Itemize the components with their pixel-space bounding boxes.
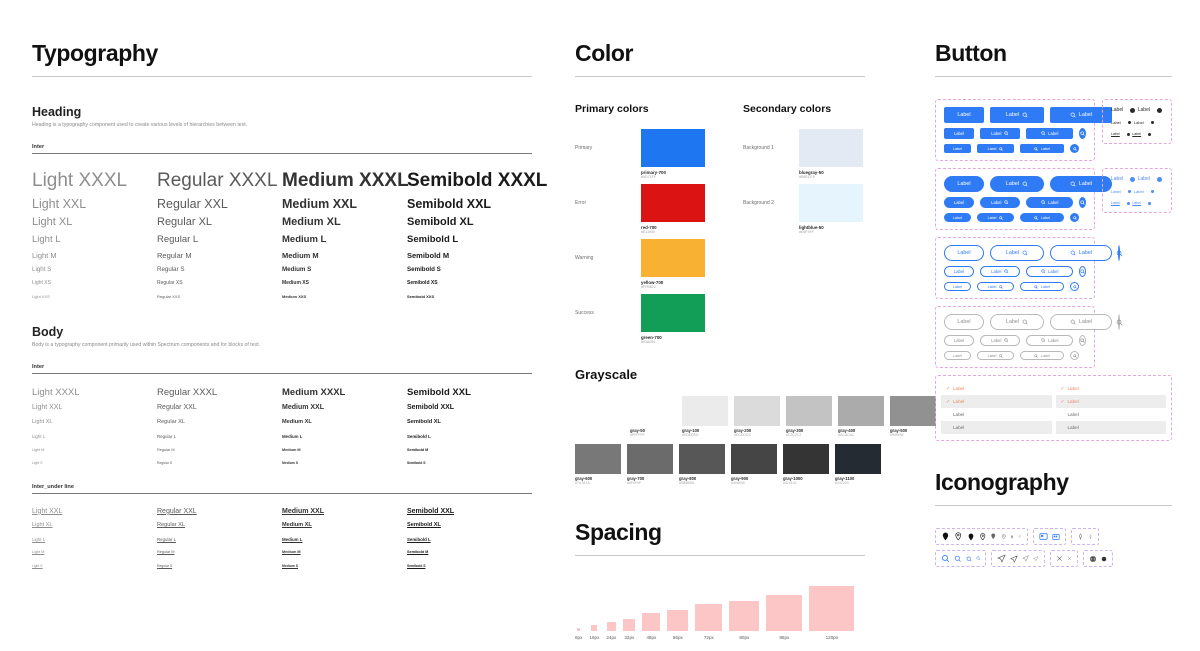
- menu-item-selected-hover[interactable]: ✓Label: [1056, 395, 1167, 408]
- grayscale-swatch: [630, 396, 676, 426]
- text-button-icon-sm[interactable]: Label: [1127, 201, 1141, 205]
- spacing-label: 72px: [704, 635, 714, 640]
- spacing-label: 48px: [646, 635, 656, 640]
- menu-item-hover[interactable]: Label: [1056, 421, 1167, 434]
- spacing-label: 80px: [739, 635, 749, 640]
- grayscale-swatch: [731, 444, 777, 474]
- swatch-role: Background 2: [743, 184, 799, 206]
- search-icon: [1073, 147, 1077, 151]
- spacing-item: 24px: [606, 622, 616, 640]
- button-row-sm: Label Label Label: [944, 144, 1086, 153]
- spacing-item: 48px: [642, 613, 660, 640]
- button-section: Button Label Label Label Label Label Lab…: [935, 40, 1172, 572]
- grayscale-hex: #414141: [783, 481, 829, 485]
- grayscale-swatch: [838, 396, 884, 426]
- type-column-semibold: Semibold XXL Semibold XL Semibold L Semi…: [407, 505, 532, 573]
- swatch-role: Success: [575, 294, 641, 316]
- grayscale-swatch: [890, 396, 936, 426]
- button-row-md: Label Label Label: [944, 197, 1086, 208]
- card-icon[interactable]: [1039, 532, 1048, 541]
- send-icon[interactable]: [997, 554, 1006, 563]
- type-column-light: Light XXXL Light XXL Light XL Light L Li…: [32, 167, 157, 304]
- menu-column: ✓Label ✓Label Label Label: [941, 382, 1052, 434]
- menu-item-selected-hover[interactable]: ✓Label: [941, 395, 1052, 408]
- grayscale-cell: gray-1100#232323: [835, 444, 881, 485]
- icon-row-1: [935, 528, 1172, 545]
- spacing-item: 56px: [667, 610, 688, 640]
- type-column-light: Light XXXL Light XXL Light XL Light L Li…: [32, 385, 157, 470]
- button-icon-left-label-lg[interactable]: Label: [1050, 314, 1112, 330]
- search-icon: [1041, 200, 1046, 205]
- send-icon[interactable]: [1033, 556, 1039, 562]
- close-icon[interactable]: [1067, 556, 1072, 561]
- circle-icon: [1151, 190, 1155, 194]
- search-icon: [1022, 319, 1028, 325]
- heading-font-family: Inter: [32, 144, 532, 150]
- spacing-swatch: [623, 619, 635, 631]
- section-divider: [575, 76, 865, 77]
- typography-section: Typography Heading Heading is a typograp…: [32, 40, 532, 573]
- search-icon[interactable]: [954, 555, 962, 563]
- button-group-outline-pill: Label Label Label Label Label Label Labe…: [935, 237, 1095, 299]
- spacing-swatch: [577, 628, 580, 631]
- button-icon-only-md[interactable]: [1079, 197, 1086, 208]
- search-icon: [1034, 147, 1038, 151]
- section-divider: [575, 555, 865, 556]
- button-label-icon-right-sm[interactable]: Label: [977, 213, 1014, 222]
- search-icon: [1022, 250, 1028, 256]
- menu-item-group: ✓Label ✓Label Label Label ✓Label ✓Label …: [935, 375, 1172, 441]
- type-column-light: Light XXL Light XL Light L Light M Light…: [32, 505, 157, 573]
- location-pin-icon[interactable]: [1001, 534, 1007, 540]
- button-icon-left-label-md[interactable]: Label: [1026, 335, 1073, 346]
- location-pin-icon[interactable]: [1010, 535, 1014, 539]
- location-pin-icon[interactable]: [979, 533, 987, 541]
- search-icon: [1070, 112, 1076, 118]
- circle-icon: [1151, 121, 1155, 125]
- type-column-regular: Regular XXXL Regular XXL Regular XL Regu…: [157, 167, 282, 304]
- grayscale-swatch: [786, 396, 832, 426]
- spacing-item: 8px: [575, 628, 582, 640]
- icon-box-search: [935, 550, 986, 567]
- grayscale-cell: gray-700#6F6F6F: [627, 444, 673, 485]
- button-row-md: Label Label Label: [944, 335, 1086, 346]
- search-icon: [1022, 181, 1028, 187]
- grayscale-cell: gray-300#C2C2C2: [786, 396, 832, 437]
- type-column-medium: Medium XXL Medium XL Medium L Medium M M…: [282, 505, 407, 573]
- button-icon-left-label-sm[interactable]: Label: [1020, 213, 1064, 222]
- text-button-icon-lg[interactable]: Label: [1130, 176, 1150, 182]
- search-icon: [1080, 131, 1085, 136]
- location-pin-icon[interactable]: [967, 533, 975, 541]
- search-icon: [1004, 131, 1009, 136]
- type-column-medium: Medium XXXL Medium XXL Medium XL Medium …: [282, 385, 407, 470]
- heading-block: Heading Heading is a typography componen…: [32, 105, 532, 303]
- swatch-row: Background 1 bluegray-50 #E6ECF5: [743, 129, 863, 184]
- search-icon: [1116, 250, 1123, 257]
- spacing-item: 72px: [695, 604, 722, 640]
- icon-box-close: [1050, 550, 1078, 567]
- primary-colors-title: Primary colors: [575, 103, 743, 115]
- button-label-lg[interactable]: Label: [944, 314, 984, 330]
- button-label-sm[interactable]: Label: [944, 282, 971, 291]
- grayscale-swatch: [783, 444, 829, 474]
- search-icon: [1080, 338, 1085, 343]
- button-row-lg: Label Label Label: [944, 314, 1086, 330]
- menu-column: ✓Label ✓Label Label Label: [1056, 382, 1167, 434]
- location-pin-icon[interactable]: [954, 532, 963, 541]
- secondary-colors-column: Secondary colors Background 1 bluegray-5…: [743, 103, 863, 349]
- button-label-icon-right-sm[interactable]: Label: [977, 282, 1014, 291]
- search-icon: [1080, 200, 1085, 205]
- button-label-sm[interactable]: Label: [944, 351, 971, 360]
- grayscale-hex: #C2C2C2: [786, 433, 832, 437]
- button-label-icon-right-md[interactable]: Label: [980, 335, 1020, 346]
- button-label-md[interactable]: Label: [944, 197, 974, 208]
- icon-box-pin-alt: [1071, 528, 1099, 545]
- button-label-icon-right-lg[interactable]: Label: [990, 107, 1044, 123]
- search-icon: [1034, 285, 1038, 289]
- spacing-swatch: [591, 625, 597, 631]
- button-icon-only-md[interactable]: [1079, 335, 1086, 346]
- spacing-swatch: [667, 610, 688, 631]
- icon-grid: [935, 528, 1172, 567]
- button-label-sm[interactable]: Label: [944, 213, 971, 222]
- swatch-hex: #FFB822: [641, 285, 705, 290]
- grayscale-cell: gray-900#494949: [731, 444, 777, 485]
- menu-item-selected[interactable]: ✓Label: [941, 382, 1052, 395]
- secondary-colors-title: Secondary colors: [743, 103, 863, 115]
- button-label-icon-right-md[interactable]: Label: [980, 128, 1020, 139]
- search-icon: [1080, 269, 1085, 274]
- search-icon[interactable]: [976, 556, 981, 561]
- text-button-icon-only-md[interactable]: [1151, 121, 1155, 125]
- button-icon-left-label-md[interactable]: Label: [1026, 128, 1073, 139]
- icon-box-send: [991, 550, 1045, 567]
- button-icon-only-sm[interactable]: [1070, 213, 1079, 222]
- button-icon-only-md[interactable]: [1079, 266, 1086, 277]
- color-section-title: Color: [575, 40, 865, 67]
- search-icon: [1070, 319, 1076, 325]
- button-label-icon-right-sm[interactable]: Label: [977, 351, 1014, 360]
- search-icon: [1073, 285, 1077, 289]
- button-row-md: Label Label Label: [944, 128, 1086, 139]
- search-icon: [1022, 112, 1028, 118]
- type-column-semibold: Semibold XXL Semibold XXL Semibold XL Se…: [407, 385, 532, 470]
- body-type-grid: Light XXXL Light XXL Light XL Light L Li…: [32, 385, 532, 470]
- text-button-row-lg: Label Label: [1111, 107, 1163, 113]
- spacing-item: 32px: [623, 619, 635, 640]
- button-icon-only-lg[interactable]: [1118, 245, 1120, 261]
- button-row-sm: Label Label Label: [944, 351, 1086, 360]
- color-swatch: [799, 129, 863, 167]
- grayscale-swatch: [627, 444, 673, 474]
- grayscale-cell: gray-200#DCDCDC: [734, 396, 780, 437]
- swatch-hex: #E11900: [641, 230, 705, 235]
- spacing-section-title: Spacing: [575, 519, 865, 546]
- spacing-item: 16px: [589, 625, 599, 640]
- spacing-label: 32px: [624, 635, 634, 640]
- button-label-md[interactable]: Label: [944, 266, 974, 277]
- grayscale-hex: #949494: [890, 433, 936, 437]
- text-button-lg[interactable]: Label: [1111, 176, 1123, 182]
- swatch-row: Background 2 lightblue-50 #E6F4FF: [743, 184, 863, 239]
- grayscale-swatch: [575, 444, 621, 474]
- grayscale-cell: gray-600#7A7A7A: [575, 444, 621, 485]
- iconography-section-title: Iconography: [935, 469, 1172, 496]
- search-icon: [1073, 354, 1077, 358]
- spacing-label: 24px: [606, 635, 616, 640]
- button-group-filled-square: Label Label Label Label Label Label Labe…: [935, 99, 1095, 161]
- card-icon[interactable]: [1052, 533, 1060, 541]
- grayscale-hex: #FFFFFF: [630, 433, 676, 437]
- circle-icon: [1157, 177, 1162, 182]
- text-button-icon-md[interactable]: Label: [1128, 189, 1144, 194]
- color-swatch: [641, 239, 705, 277]
- search-icon: [1004, 269, 1009, 274]
- circle-icon: [1148, 133, 1151, 136]
- text-button-row-sm: Label Label: [1111, 132, 1163, 136]
- search-icon: [1073, 216, 1077, 220]
- underline-font-family: Inter_under line: [32, 484, 532, 490]
- style-guide-page: Typography Heading Heading is a typograp…: [0, 0, 1200, 651]
- text-button-icon-only-md[interactable]: [1151, 190, 1155, 194]
- button-groups: Label Label Label Label Label Label Labe…: [935, 99, 1172, 441]
- button-icon-left-label-sm[interactable]: Label: [1020, 282, 1064, 291]
- text-button-lg[interactable]: Label: [1111, 107, 1123, 113]
- grayscale-hex: #ACACAC: [838, 433, 884, 437]
- spacing-swatch: [809, 586, 854, 631]
- spacing-label: 120px: [826, 635, 839, 640]
- body-block-desc: Body is a typography component primarily…: [32, 342, 532, 350]
- search-icon: [1004, 200, 1009, 205]
- body-block: Body Body is a typography component prim…: [32, 325, 532, 469]
- spacing-swatch: [729, 601, 759, 631]
- button-icon-only-md[interactable]: [1079, 128, 1086, 139]
- spacing-swatch: [766, 595, 802, 631]
- button-label-icon-right-md[interactable]: Label: [980, 266, 1020, 277]
- spacing-scale: 8px16px24px32px48px56px72px80px96px120px: [575, 578, 865, 640]
- grayscale-row: gray-600#7A7A7Agray-700#6F6F6Fgray-800#5…: [575, 444, 865, 485]
- pin-alt-icon[interactable]: [1088, 534, 1093, 539]
- button-group-disabled-pill: Label Label Label Label Label Label Labe…: [935, 306, 1095, 368]
- spacing-label: 56px: [673, 635, 683, 640]
- button-label-md[interactable]: Label: [944, 335, 974, 346]
- grayscale-swatch: [734, 396, 780, 426]
- search-icon: [1004, 338, 1009, 343]
- menu-item-selected[interactable]: ✓Label: [1056, 382, 1167, 395]
- type-column-medium: Medium XXXL Medium XXL Medium XL Medium …: [282, 167, 407, 304]
- button-icon-left-label-lg[interactable]: Label: [1050, 245, 1112, 261]
- button-label-lg[interactable]: Label: [944, 107, 984, 123]
- globe-icon[interactable]: [1089, 555, 1097, 563]
- color-swatch: [641, 129, 705, 167]
- family-divider: [32, 373, 532, 374]
- button-group-filled-pill: Label Label Label Label Label Label Labe…: [935, 168, 1095, 230]
- grayscale-hex: #232323: [835, 481, 881, 485]
- color-columns: Primary colors Primary primary-700 #0D71…: [575, 103, 865, 349]
- search-icon: [999, 354, 1003, 358]
- grayscale-hex: #6F6F6F: [627, 481, 673, 485]
- button-label-lg[interactable]: Label: [944, 176, 984, 192]
- search-icon: [999, 216, 1003, 220]
- section-divider: [32, 76, 532, 77]
- grayscale-hex: #494949: [731, 481, 777, 485]
- text-button-row-md: Label Label: [1111, 189, 1163, 194]
- circle-icon: [1148, 202, 1151, 205]
- spacing-swatch: [642, 613, 660, 631]
- menu-item-hover[interactable]: Label: [941, 421, 1052, 434]
- check-icon: ✓: [1061, 386, 1065, 392]
- text-button-icon-lg[interactable]: Label: [1130, 107, 1150, 113]
- button-row-lg: Label Label Label: [944, 107, 1086, 123]
- text-button-row-sm: Label Label: [1111, 201, 1163, 205]
- button-icon-left-label-sm[interactable]: Label: [1020, 351, 1064, 360]
- search-icon: [1070, 181, 1076, 187]
- circle-icon: [1157, 108, 1162, 113]
- spacing-item: 80px: [729, 601, 759, 640]
- swatch-role: Error: [575, 184, 641, 206]
- text-button-icon-only-sm[interactable]: [1148, 133, 1151, 136]
- button-label-icon-right-lg[interactable]: Label: [990, 314, 1044, 330]
- check-icon: ✓: [1061, 399, 1065, 405]
- section-divider: [935, 76, 1172, 77]
- swatch-role: Warning: [575, 239, 641, 261]
- search-icon: [1041, 338, 1046, 343]
- grayscale-cell: gray-400#ACACAC: [838, 396, 884, 437]
- primary-colors-column: Primary colors Primary primary-700 #0D71…: [575, 103, 743, 349]
- search-icon: [999, 285, 1003, 289]
- check-icon: ✓: [946, 399, 950, 405]
- text-button-icon-md[interactable]: Label: [1128, 120, 1144, 125]
- button-label-sm[interactable]: Label: [944, 144, 971, 153]
- button-icon-only-lg[interactable]: [1118, 314, 1120, 330]
- button-icon-only-sm[interactable]: [1070, 282, 1079, 291]
- search-icon[interactable]: [941, 554, 950, 563]
- grayscale-hex: #7A7A7A: [575, 481, 621, 485]
- family-divider: [32, 493, 532, 494]
- location-pin-icon[interactable]: [941, 532, 950, 541]
- button-icon-left-label-md[interactable]: Label: [1026, 197, 1073, 208]
- button-row-lg: Label Label Label: [944, 245, 1086, 261]
- grayscale-cell: gray-800#5B5B5B: [679, 444, 725, 485]
- grayscale-cell: gray-1000#414141: [783, 444, 829, 485]
- circle-icon: [1127, 133, 1130, 136]
- swatch-role: Background 1: [743, 129, 799, 151]
- grayscale-title: Grayscale: [575, 367, 865, 382]
- icon-box-cards: [1033, 528, 1066, 545]
- swatch-hex: #E6ECF5: [799, 175, 863, 180]
- text-button-sm[interactable]: Label: [1111, 201, 1120, 205]
- send-icon[interactable]: [1022, 555, 1029, 562]
- type-column-semibold: Semibold XXXL Semibold XXL Semibold XL S…: [407, 167, 532, 304]
- menu-item[interactable]: Label: [1056, 408, 1167, 421]
- text-button-md[interactable]: Label: [1111, 189, 1121, 194]
- swatch-row: Error red-700 #E11900: [575, 184, 743, 239]
- check-icon: ✓: [946, 386, 950, 392]
- body-font-family: Inter: [32, 364, 532, 370]
- spacing-label: 16px: [589, 635, 599, 640]
- button-icon-left-label-md[interactable]: Label: [1026, 266, 1073, 277]
- body-block-title: Body: [32, 325, 532, 339]
- family-divider: [32, 153, 532, 154]
- swatch-hex: #E6F4FF: [799, 230, 863, 235]
- grayscale-hex: #5B5B5B: [679, 481, 725, 485]
- heading-block-desc: Heading is a typography component used t…: [32, 122, 532, 130]
- button-label-md[interactable]: Label: [944, 128, 974, 139]
- heading-block-title: Heading: [32, 105, 532, 119]
- circle-icon: [1128, 190, 1132, 194]
- button-label-icon-right-lg[interactable]: Label: [990, 176, 1044, 192]
- search-icon: [1116, 319, 1123, 326]
- color-section: Color Primary colors Primary primary-700…: [575, 40, 865, 640]
- button-icon-only-sm[interactable]: [1070, 351, 1079, 360]
- color-swatch: [641, 184, 705, 222]
- icon-box-globe: [1083, 550, 1113, 567]
- text-button-icon-only-lg[interactable]: [1157, 108, 1162, 113]
- close-icon[interactable]: [1056, 555, 1063, 562]
- text-button-md[interactable]: Label: [1111, 120, 1121, 125]
- button-label-icon-right-md[interactable]: Label: [980, 197, 1020, 208]
- pin-alt-icon[interactable]: [1077, 533, 1084, 540]
- search-icon: [1041, 131, 1046, 136]
- button-section-title: Button: [935, 40, 1172, 67]
- grayscale-cell: gray-100#EDEDED: [682, 396, 728, 437]
- circle-icon: [1130, 108, 1135, 113]
- globe-icon[interactable]: [1101, 556, 1107, 562]
- swatch-role: Primary: [575, 129, 641, 151]
- typography-section-title: Typography: [32, 40, 532, 67]
- send-icon[interactable]: [1010, 555, 1018, 563]
- search-icon: [1041, 269, 1046, 274]
- spacing-item: 120px: [809, 586, 854, 640]
- spacing-item: 96px: [766, 595, 802, 640]
- location-pin-icon[interactable]: [990, 533, 997, 540]
- button-label-lg[interactable]: Label: [944, 245, 984, 261]
- iconography-section: Iconography: [935, 469, 1172, 567]
- spacing-section: Spacing 8px16px24px32px48px56px72px80px9…: [575, 519, 865, 640]
- text-button-icon-sm[interactable]: Label: [1127, 132, 1141, 136]
- button-row-lg: Label Label Label: [944, 176, 1086, 192]
- text-button-icon-only-lg[interactable]: [1157, 177, 1162, 182]
- button-label-icon-right-lg[interactable]: Label: [990, 245, 1044, 261]
- search-icon[interactable]: [966, 556, 972, 562]
- text-button-sm[interactable]: Label: [1111, 132, 1120, 136]
- circle-icon: [1130, 177, 1135, 182]
- grayscale-swatch: [682, 396, 728, 426]
- icon-box-location-pins: [935, 528, 1028, 545]
- grayscale-hex: #DCDCDC: [734, 433, 780, 437]
- spacing-swatch: [607, 622, 616, 631]
- type-column-regular: Regular XXXL Regular XXL Regular XL Regu…: [157, 385, 282, 470]
- search-icon: [1034, 216, 1038, 220]
- button-icon-only-sm[interactable]: [1070, 144, 1079, 153]
- swatch-row: Success green-700 #03A254: [575, 294, 743, 349]
- button-row-sm: Label Label Label: [944, 213, 1086, 222]
- grayscale-swatch: [679, 444, 725, 474]
- text-button-icon-only-sm[interactable]: [1148, 202, 1151, 205]
- grayscale-cell: gray-50#FFFFFF: [630, 396, 676, 437]
- location-pin-icon[interactable]: [1018, 535, 1022, 539]
- circle-icon: [1128, 121, 1132, 125]
- grayscale-hex: #EDEDED: [682, 433, 728, 437]
- button-icon-left-label-sm[interactable]: Label: [1020, 144, 1064, 153]
- spacing-swatch: [695, 604, 722, 631]
- grayscale-swatch: [835, 444, 881, 474]
- swatch-hex: #0D71FF: [641, 175, 705, 180]
- button-label-icon-right-sm[interactable]: Label: [977, 144, 1014, 153]
- menu-item[interactable]: Label: [941, 408, 1052, 421]
